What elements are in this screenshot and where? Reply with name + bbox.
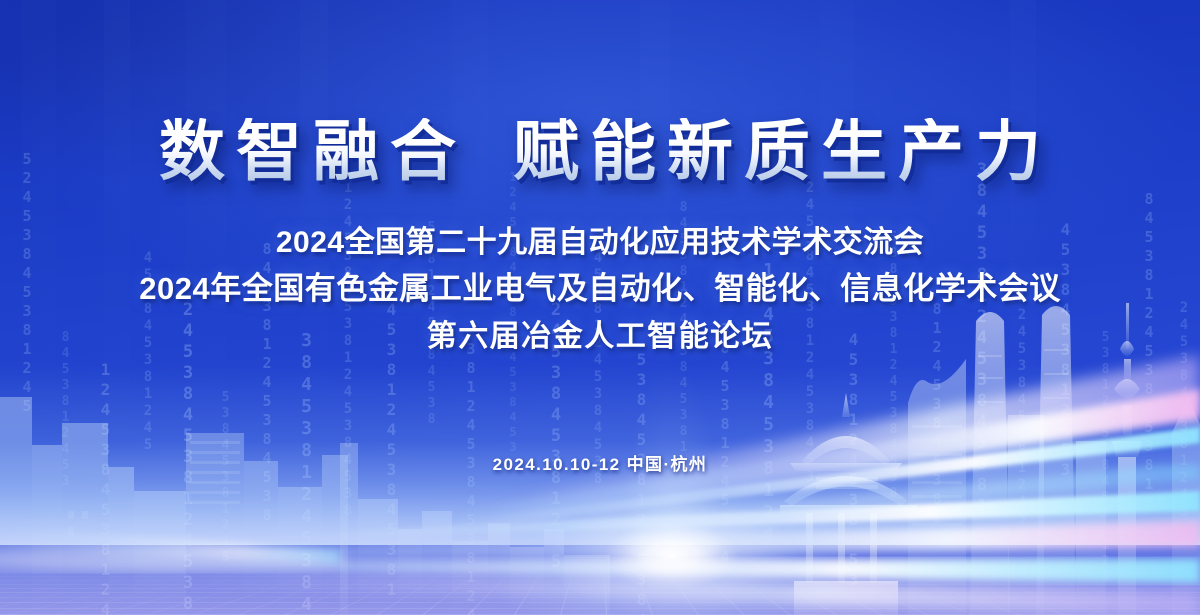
subtitle-line-2: 2024年全国有色金属工业电气及自动化、智能化、信息化学术会议	[0, 263, 1200, 308]
banner-content: 数智融合赋能新质生产力 2024全国第二十九届自动化应用技术学术交流会 2024…	[0, 0, 1200, 615]
main-title: 数智融合赋能新质生产力	[0, 118, 1200, 184]
date-location: 2024.10.10-12 中国·杭州	[0, 450, 1200, 475]
main-title-part1: 数智融合	[159, 114, 467, 188]
main-title-part2: 赋能新质生产力	[513, 114, 1052, 188]
conference-banner: 5245384538124584538124531245384538124538…	[0, 0, 1200, 615]
subtitle-line-3: 第六届冶金人工智能论坛	[0, 311, 1200, 355]
subtitle-line-1: 2024全国第二十九届自动化应用技术学术交流会	[0, 217, 1200, 261]
